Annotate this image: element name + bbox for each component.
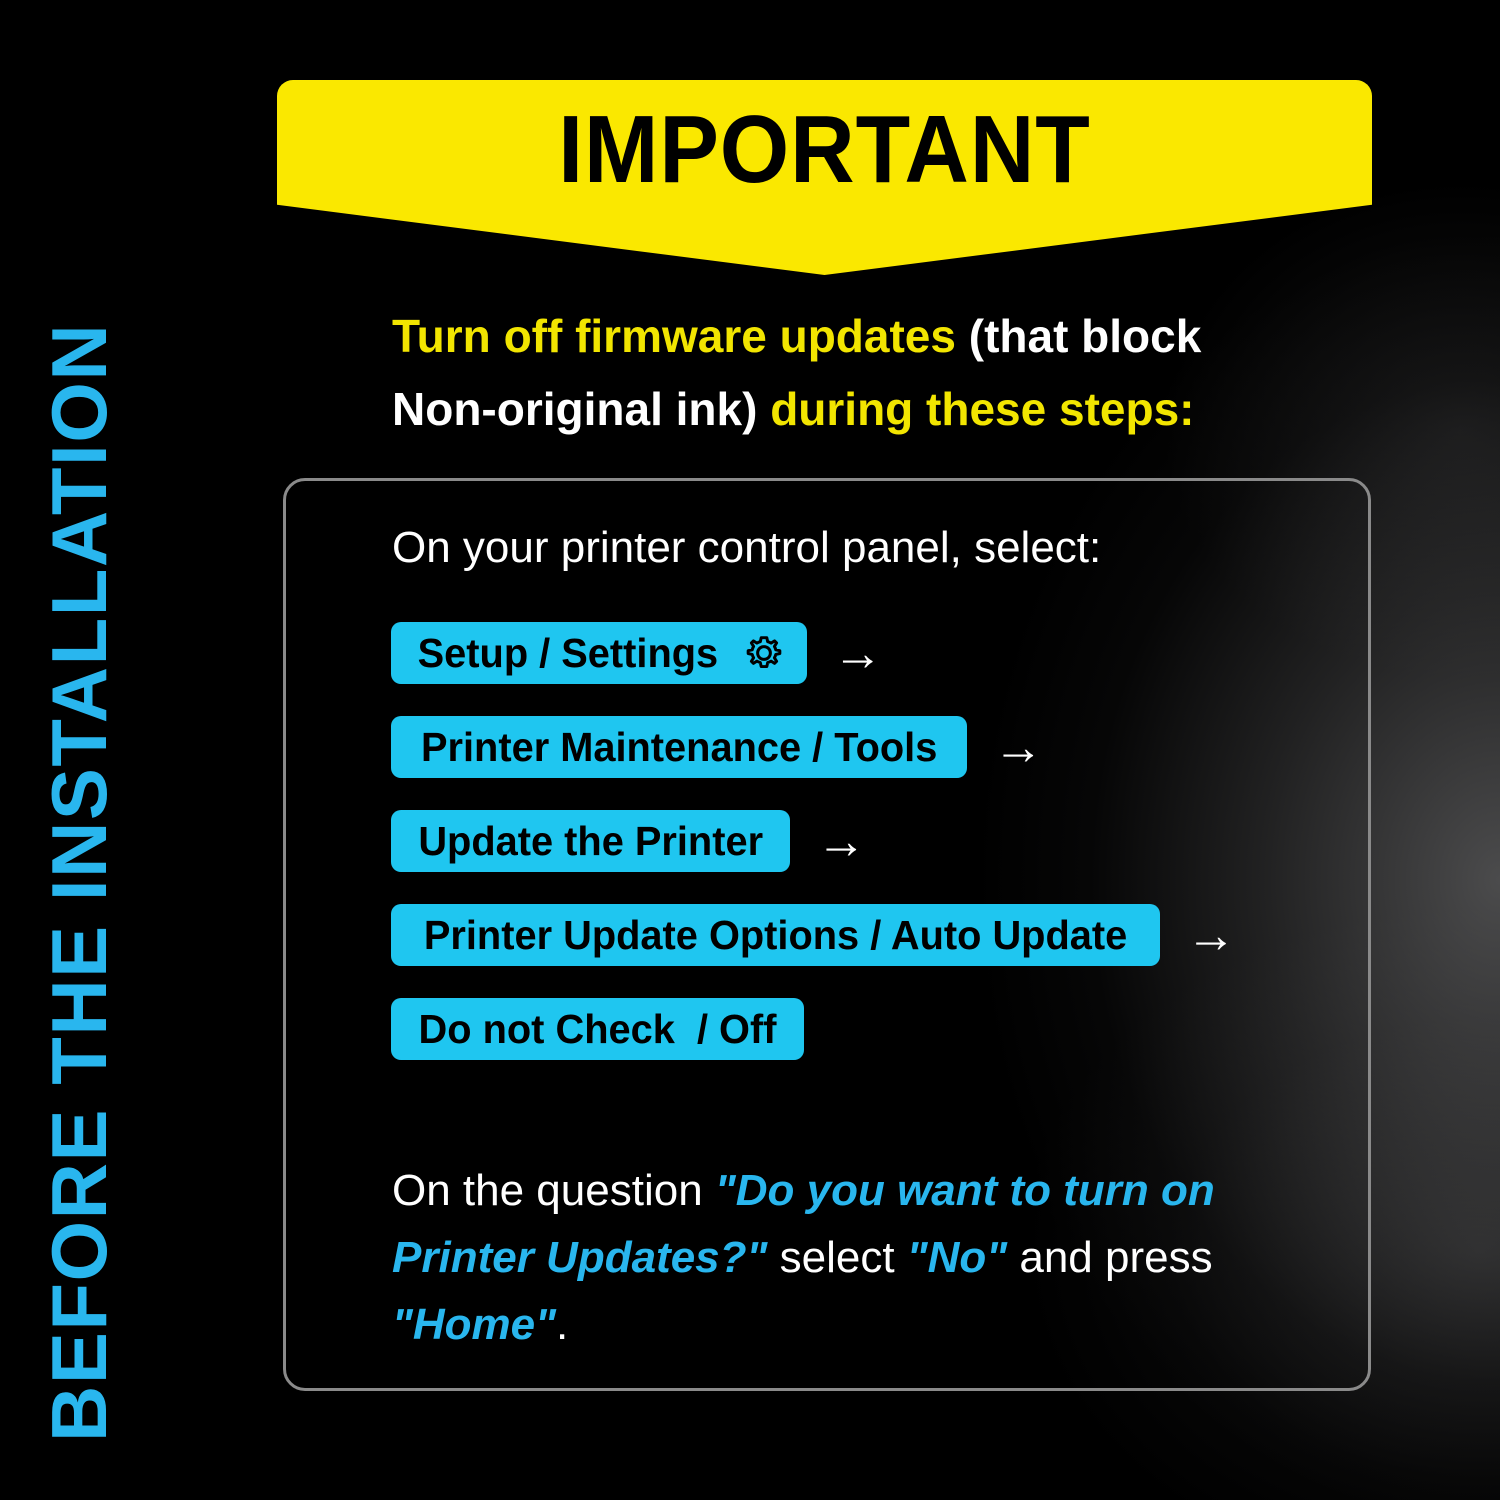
arrow-right-icon: → xyxy=(816,816,866,866)
step-label: Printer Maintenance / Tools xyxy=(421,724,937,771)
closing-paragraph: On the question "Do you want to turn on … xyxy=(392,1158,1272,1359)
intro-part2: during these steps: xyxy=(757,383,1194,435)
closing-part4: . xyxy=(556,1300,568,1349)
step-row: Printer Update Options / Auto Update → xyxy=(391,904,1311,966)
step-row: Printer Maintenance / Tools → xyxy=(391,716,1311,778)
step-row: Update the Printer → xyxy=(391,810,1311,872)
important-banner: IMPORTANT xyxy=(277,80,1372,275)
step-button-printer-maintenance-tools[interactable]: Printer Maintenance / Tools xyxy=(391,716,967,778)
step-button-update-the-printer[interactable]: Update the Printer xyxy=(391,810,790,872)
side-title-text: BEFORE THE INSTALLATION xyxy=(40,323,118,1442)
intro-statement: Turn off firmware updates (that block No… xyxy=(392,300,1222,445)
step-label: Update the Printer xyxy=(418,818,763,865)
arrow-right-icon: → xyxy=(993,722,1043,772)
arrow-right-icon: → xyxy=(833,628,883,678)
steps-list: Setup / Settings → Printer Maintenance /… xyxy=(391,622,1311,1092)
panel-lead-text: On your printer control panel, select: xyxy=(392,523,1101,573)
banner-title: IMPORTANT xyxy=(315,102,1333,198)
closing-home-quote: "Home" xyxy=(392,1300,556,1349)
step-row: Do not Check / Off xyxy=(391,998,1311,1060)
closing-part1: On the question xyxy=(392,1166,715,1215)
gear-icon xyxy=(743,632,785,674)
step-label: Setup / Settings xyxy=(418,630,719,677)
step-label: Do not Check / Off xyxy=(419,1006,777,1053)
closing-part3: and press xyxy=(1007,1233,1212,1282)
step-button-setup-settings[interactable]: Setup / Settings xyxy=(391,622,807,684)
poster-root: BEFORE THE INSTALLATION IMPORTANT Turn o… xyxy=(0,0,1500,1500)
closing-answer-quote: "No" xyxy=(907,1233,1007,1282)
intro-part1: Turn off firmware updates xyxy=(392,310,969,362)
arrow-right-icon: → xyxy=(1186,910,1236,960)
closing-part2: select xyxy=(767,1233,906,1282)
step-row: Setup / Settings → xyxy=(391,622,1311,684)
step-button-printer-update-options-auto-update[interactable]: Printer Update Options / Auto Update xyxy=(391,904,1160,966)
step-label: Printer Update Options / Auto Update xyxy=(424,912,1127,959)
step-button-do-not-check-off[interactable]: Do not Check / Off xyxy=(391,998,804,1060)
